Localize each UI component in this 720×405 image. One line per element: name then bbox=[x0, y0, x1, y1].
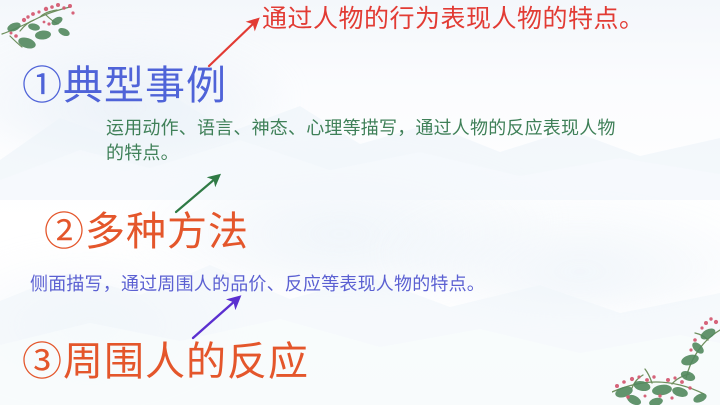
item-3-title: ③周围人的反应 bbox=[22, 338, 309, 386]
item-1-title: ①典型事例 bbox=[22, 62, 227, 110]
note-purple-text: 侧面描写，通过周围人的品价、反应等表现人物的特点。 bbox=[30, 272, 485, 297]
item-2-title: ②多种方法 bbox=[44, 208, 249, 256]
note-green-text: 运用动作、语言、神态、心理等描写，通过人物的反应表现人物的特点。 bbox=[106, 116, 616, 166]
slide-canvas: 通过人物的行为表现人物的特点。 ①典型事例 运用动作、语言、神态、心理等描写，通… bbox=[0, 0, 720, 405]
headline-red-text: 通过人物的行为表现人物的特点。 bbox=[262, 4, 645, 34]
